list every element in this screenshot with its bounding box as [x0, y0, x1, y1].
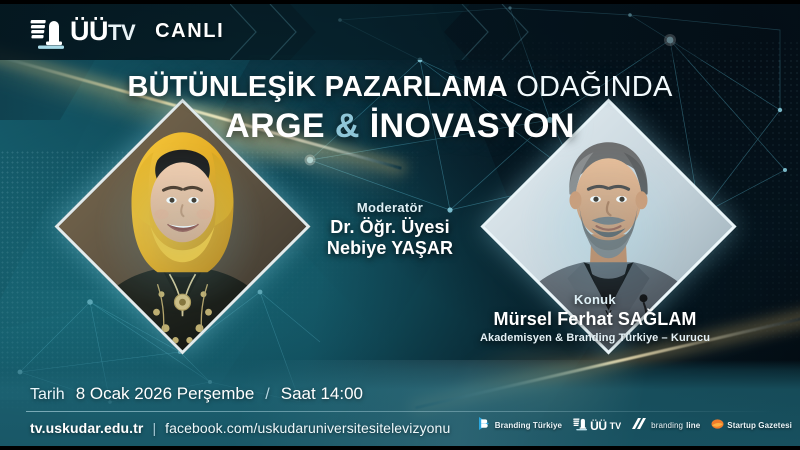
date-value: 8 Ocak 2026 Perşembe — [76, 384, 255, 404]
title-line-2: ARGE & İNOVASYON — [0, 107, 800, 146]
guest-name: Mürsel Ferhat SAĞLAM — [430, 309, 760, 330]
letterbox-top — [0, 0, 800, 4]
links-row: tv.uskudar.edu.tr | facebook.com/uskudar… — [30, 420, 450, 436]
logo-text-primary: ÜÜ — [70, 18, 108, 45]
moderator-credit: Moderatör Dr. Öğr. Üyesi Nebiye YAŞAR — [300, 200, 480, 259]
uskudar-tower-icon — [30, 12, 64, 50]
header-chevron-decoration — [230, 4, 560, 60]
moderator-role-label: Moderatör — [300, 200, 480, 215]
branding-turkiye-icon — [478, 416, 492, 436]
sponsor-uutv-label-primary: ÜÜ — [590, 419, 607, 433]
schedule-row: Tarih 8 Ocak 2026 Perşembe / Saat 14:00 — [30, 384, 363, 404]
date-label: Tarih — [30, 386, 65, 404]
time-value: Saat 14:00 — [281, 384, 363, 404]
schedule-separator: / — [265, 386, 269, 404]
sponsor-branding-line-label-thin: branding — [651, 421, 683, 430]
broadcast-promo-graphic: ÜÜ TV CANLI BÜTÜNLEŞİK PAZARLAMA ODAĞIND… — [0, 0, 800, 450]
sponsor-branding-line[interactable]: branding line — [632, 417, 700, 435]
sponsor-logos: Branding Türkiye ÜÜ TV — [478, 415, 792, 436]
logo-text-secondary: TV — [108, 22, 135, 44]
startup-gazetesi-icon — [711, 417, 724, 435]
guest-credit: Konuk Mürsel Ferhat SAĞLAM Akademisyen &… — [430, 292, 760, 344]
sponsor-branding-line-label-bold: line — [686, 421, 700, 430]
sponsor-uutv-label-secondary: TV — [610, 421, 622, 431]
sponsor-startup-gazetesi-label: Startup Gazetesi — [727, 421, 792, 430]
uutv-logo[interactable]: ÜÜ TV CANLI — [30, 10, 224, 52]
links-separator: | — [152, 420, 156, 436]
title-line-1: BÜTÜNLEŞİK PAZARLAMA ODAĞINDA — [0, 70, 800, 104]
letterbox-bottom — [0, 446, 800, 450]
title-ampersand: & — [335, 107, 360, 145]
uutv-tower-icon — [573, 415, 587, 436]
sponsor-branding-turkiye[interactable]: Branding Türkiye — [478, 416, 562, 436]
live-badge-label: CANLI — [155, 20, 224, 43]
moderator-title: Dr. Öğr. Üyesi — [300, 217, 480, 238]
facebook-link[interactable]: facebook.com/uskudaruniversitesitelevizy… — [165, 420, 450, 436]
title-line-2-part1: ARGE — [225, 107, 325, 145]
guest-affiliation: Akademisyen & Branding Türkiye – Kurucu — [430, 332, 760, 344]
sponsor-startup-gazetesi[interactable]: Startup Gazetesi — [711, 417, 792, 435]
website-link[interactable]: tv.uskudar.edu.tr — [30, 420, 143, 436]
sponsor-uutv[interactable]: ÜÜ TV — [573, 415, 621, 436]
title-line-2-part2: İNOVASYON — [370, 107, 575, 145]
sponsor-branding-turkiye-label: Branding Türkiye — [495, 421, 562, 430]
title-line-1-bold: BÜTÜNLEŞİK PAZARLAMA — [128, 71, 508, 103]
footer-divider — [26, 411, 774, 412]
moderator-name: Nebiye YAŞAR — [300, 238, 480, 259]
branding-line-chevron-icon — [632, 417, 648, 435]
title-line-1-light: ODAĞINDA — [516, 71, 672, 103]
guest-role-label: Konuk — [430, 292, 760, 307]
title-block: BÜTÜNLEŞİK PAZARLAMA ODAĞINDA ARGE & İNO… — [0, 70, 800, 146]
uutv-logo-text: ÜÜ TV — [70, 18, 135, 45]
